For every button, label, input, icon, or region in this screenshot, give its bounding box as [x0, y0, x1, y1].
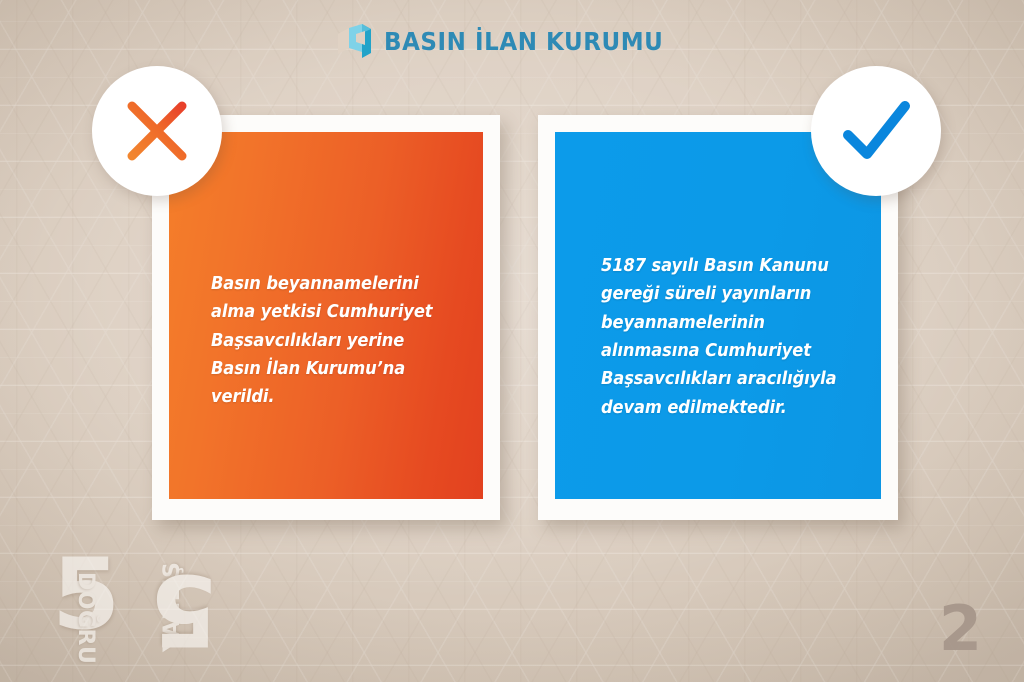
check-icon — [834, 89, 918, 173]
statement-card-true-text: 5187 sayılı Basın Kanunu gereği süreli y… — [601, 252, 866, 422]
program-brand-lockup: 5 DOĞRU YANLIŞ 5 — [52, 556, 227, 656]
check-badge — [811, 66, 941, 196]
brand-name-text: BASIN İLAN KURUMU — [384, 27, 663, 56]
statement-card-true-panel: 5187 sayılı Basın Kanunu gereği süreli y… — [555, 132, 881, 499]
cross-icon — [119, 93, 195, 169]
basin-ilan-kurumu-cube-logo-icon — [336, 24, 372, 58]
cross-badge — [92, 66, 222, 196]
lockup-numeral-right: 5 — [150, 566, 218, 652]
lockup-word-dogru: DOĞRU — [73, 572, 98, 664]
page-number: 2 — [939, 598, 982, 660]
header-brand: BASIN İLAN KURUMU — [0, 24, 1024, 58]
statement-card-false: Basın beyannamelerini alma yetkisi Cumhu… — [152, 115, 500, 520]
slide-canvas: BASIN İLAN KURUMU Basın beyannamelerini … — [0, 0, 1024, 682]
statement-card-false-text: Basın beyannamelerini alma yetkisi Cumhu… — [211, 270, 457, 412]
statement-card-false-panel: Basın beyannamelerini alma yetkisi Cumhu… — [169, 132, 483, 499]
